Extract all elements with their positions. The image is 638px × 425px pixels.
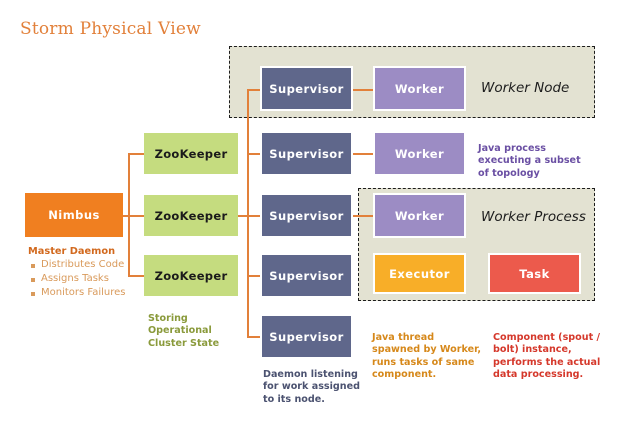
node-zookeeper-2[interactable]: ZooKeeper: [144, 195, 238, 236]
node-zookeeper-2-label: ZooKeeper: [155, 209, 228, 223]
node-worker-2[interactable]: Worker: [373, 131, 466, 176]
node-worker-3-label: Worker: [395, 209, 444, 223]
connector-supervisor-vertical-bus: [247, 89, 249, 336]
node-supervisor-1[interactable]: Supervisor: [260, 66, 353, 111]
node-zookeeper-1-label: ZooKeeper: [155, 147, 228, 161]
node-worker-3[interactable]: Worker: [373, 193, 466, 238]
caption-master-daemon-bullets: Distributes Code Assigns Tasks Monitors …: [30, 258, 126, 301]
node-worker-2-label: Worker: [395, 147, 444, 161]
node-executor-label: Executor: [389, 267, 450, 281]
page-title: Storm Physical View: [20, 19, 201, 39]
group-label-worker-process: Worker Process: [481, 209, 586, 225]
connector-supervisor-worker-2: [352, 153, 374, 155]
node-supervisor-2-label: Supervisor: [269, 147, 344, 161]
connector-supervisor-worker-1: [352, 89, 374, 91]
node-supervisor-5[interactable]: Supervisor: [260, 314, 353, 359]
node-zookeeper-3-label: ZooKeeper: [155, 269, 228, 283]
caption-zookeeper: Storing Operational Cluster State: [148, 313, 219, 350]
node-worker-1-label: Worker: [395, 82, 444, 96]
node-task[interactable]: Task: [488, 253, 581, 294]
node-supervisor-3[interactable]: Supervisor: [260, 193, 353, 238]
bullet-item: Distributes Code: [30, 258, 126, 272]
caption-worker: Java process executing a subset of topol…: [478, 143, 581, 180]
node-supervisor-2[interactable]: Supervisor: [260, 131, 353, 176]
caption-task: Component (spout / bolt) instance, perfo…: [493, 332, 600, 381]
node-nimbus-label: Nimbus: [48, 208, 100, 222]
node-task-label: Task: [519, 267, 549, 281]
node-executor[interactable]: Executor: [373, 253, 466, 294]
node-worker-1[interactable]: Worker: [373, 66, 466, 111]
bullet-item: Monitors Failures: [30, 286, 126, 300]
caption-master-daemon-heading: Master Daemon: [28, 246, 115, 257]
node-supervisor-3-label: Supervisor: [269, 209, 344, 223]
node-supervisor-4[interactable]: Supervisor: [260, 253, 353, 298]
node-zookeeper-3[interactable]: ZooKeeper: [144, 255, 238, 296]
node-nimbus[interactable]: Nimbus: [25, 193, 123, 237]
caption-executor: Java thread spawned by Worker, runs task…: [372, 332, 481, 381]
node-supervisor-1-label: Supervisor: [269, 82, 344, 96]
node-zookeeper-1[interactable]: ZooKeeper: [144, 133, 238, 174]
node-supervisor-5-label: Supervisor: [269, 330, 344, 344]
caption-supervisor: Daemon listening for work assigned to it…: [263, 369, 360, 406]
connector-supervisor-worker-3: [352, 215, 374, 217]
node-supervisor-4-label: Supervisor: [269, 269, 344, 283]
storm-physical-view-diagram: Storm Physical View Worker Node Worker P…: [0, 0, 638, 425]
bullet-item: Assigns Tasks: [30, 272, 126, 286]
group-label-worker-node: Worker Node: [481, 80, 569, 96]
